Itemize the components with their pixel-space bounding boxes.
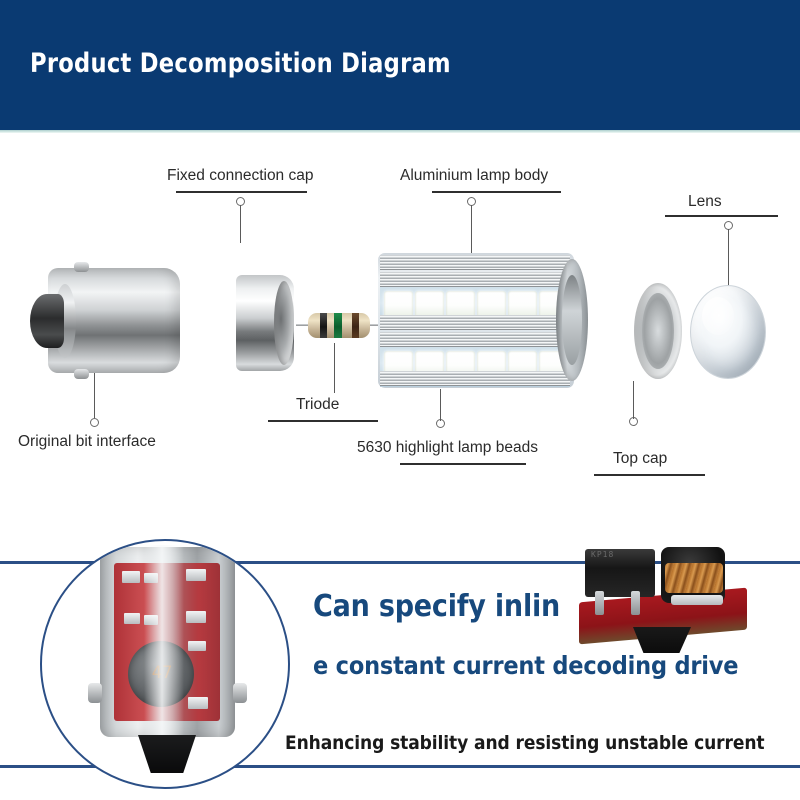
fixed-connection-cap-part — [182, 275, 294, 371]
lens-highlight — [702, 297, 734, 335]
triode-resistor-part — [296, 313, 382, 339]
exploded-diagram: Fixed connection cap Aluminium lamp body… — [0, 133, 800, 533]
label-triode: Triode — [296, 396, 339, 414]
feature-section: 47 KP18 Can specify inlin e constant cur… — [0, 533, 800, 800]
heatsink-fin — [380, 332, 570, 347]
pcb-solder-joint — [671, 595, 723, 605]
feature-tagline: Enhancing stability and resisting unstab… — [285, 732, 765, 754]
page-header: Product Decomposition Diagram — [0, 0, 800, 130]
label-fixed-connection-cap: Fixed connection cap — [167, 167, 313, 185]
pcb-ic-leg — [595, 591, 604, 615]
heatsink-fin — [380, 371, 570, 386]
label-top-cap: Top cap — [613, 450, 667, 468]
cutaway-glare — [144, 545, 184, 741]
driver-pcb-photo: KP18 — [575, 545, 750, 655]
underline-lamp-beads — [400, 463, 526, 465]
lens-part — [690, 285, 766, 379]
resistor-band-black — [320, 313, 327, 338]
leader-line-aluminium-lamp-body — [471, 205, 472, 253]
bayonet-pin-top — [74, 262, 89, 272]
bulb-base-rim — [168, 272, 182, 369]
lens-glass — [690, 285, 766, 379]
leader-line-lens — [728, 229, 729, 287]
underline-lens — [665, 215, 778, 217]
resistor-band-green — [334, 313, 342, 338]
leader-line-fixed-connection-cap — [240, 205, 241, 243]
underline-aluminium-lamp-body — [432, 191, 561, 193]
bayonet-pin-bottom — [74, 369, 89, 379]
cutaway-base-contact — [150, 769, 184, 783]
top-cap-mouth-inner — [642, 293, 674, 369]
underline-triode — [268, 420, 378, 422]
underline-fixed-connection-cap — [176, 191, 307, 193]
underline-top-cap — [594, 474, 705, 476]
leader-line-original-bit-interface — [94, 373, 95, 418]
heatsink-fin — [380, 255, 570, 270]
leader-line-triode — [334, 343, 335, 393]
feature-claim-line2: e constant current decoding drive — [313, 651, 738, 680]
cutaway-smd — [124, 613, 140, 624]
cutaway-smd — [122, 571, 140, 583]
cutaway-smd — [186, 569, 206, 581]
label-aluminium-lamp-body: Aluminium lamp body — [400, 167, 548, 185]
heatsink-fin — [380, 272, 570, 287]
cutaway-smd — [186, 611, 206, 623]
original-bit-interface-part — [30, 268, 180, 373]
cutaway-smd — [188, 641, 206, 651]
leader-line-top-cap — [633, 381, 634, 419]
pcb-ic-marking: KP18 — [591, 550, 651, 559]
cutaway-pin-left — [88, 683, 102, 703]
label-lamp-beads: 5630 highlight lamp beads — [357, 439, 538, 457]
pcb-inductor-winding — [665, 563, 723, 593]
label-lens: Lens — [688, 193, 722, 211]
leader-line-lamp-beads — [440, 389, 441, 421]
bulb-contact-tip — [30, 294, 64, 348]
cutaway-pin-right — [233, 683, 247, 703]
cutaway-bulb: 47 — [100, 539, 235, 787]
cap-mouth — [274, 281, 294, 365]
resistor-band-brown — [352, 313, 359, 338]
top-cap-part — [600, 283, 682, 379]
bulb-cutaway-inset: 47 — [40, 539, 290, 789]
feature-claim-line1: Can specify inlin — [313, 589, 560, 624]
pcb-shadow — [633, 627, 691, 653]
lamp-body-endcap-inner — [562, 275, 582, 365]
label-original-bit-interface: Original bit interface — [18, 433, 156, 451]
heatsink-fin — [380, 315, 570, 330]
cutaway-smd — [188, 697, 208, 709]
aluminium-lamp-body-part — [378, 253, 588, 388]
pcb-ic-leg — [631, 591, 640, 615]
cutaway-base-tip — [138, 735, 196, 773]
page-title: Product Decomposition Diagram — [30, 48, 451, 79]
leader-ring-original-bit-interface — [90, 418, 99, 427]
